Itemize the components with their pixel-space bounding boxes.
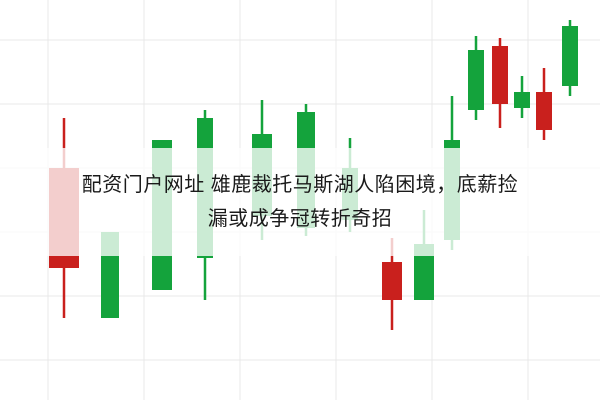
candle-body	[492, 46, 508, 104]
screenshot-root: 配资门户网址 雄鹿裁托马斯湖人陷困境，底薪捡 漏或成争冠转折奇招	[0, 0, 600, 400]
candle-body	[382, 262, 402, 300]
candle-body	[468, 50, 484, 110]
headline-line-1: 配资门户网址 雄鹿裁托马斯湖人陷困境，底薪捡	[82, 168, 519, 202]
candle-body	[562, 26, 578, 86]
headline-overlay: 配资门户网址 雄鹿裁托马斯湖人陷困境，底薪捡 漏或成争冠转折奇招	[0, 148, 600, 256]
candle-body	[514, 92, 530, 108]
headline-line-2: 漏或成争冠转折奇招	[208, 202, 393, 236]
candle-body	[536, 92, 552, 130]
